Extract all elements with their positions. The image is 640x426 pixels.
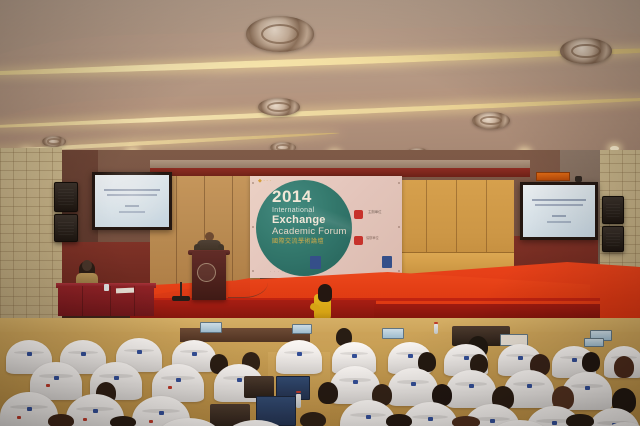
podium-seal-icon — [197, 263, 216, 282]
moderator-head — [82, 260, 92, 271]
right-slide-surface — [523, 185, 595, 237]
water-cup — [104, 284, 109, 291]
attendee-head — [386, 414, 412, 426]
banner-year: 2014 — [272, 188, 392, 205]
podium — [192, 252, 226, 300]
water-bottle — [296, 394, 301, 408]
wall-speaker-icon — [602, 196, 624, 224]
audience-area — [0, 318, 640, 426]
list-item — [388, 368, 438, 406]
banner-sponsor-logo — [382, 256, 392, 268]
attendee-head — [614, 356, 634, 378]
microphone-base — [172, 296, 190, 301]
conference-hall-photo: ◆ · · · 2014 International Exchange Acad… — [0, 0, 640, 426]
wall-speaker-icon — [602, 226, 624, 252]
left-textured-wall-panel — [0, 148, 62, 324]
ceiling-vent-icon — [42, 136, 66, 147]
banner-line-exchange: Exchange — [272, 215, 392, 226]
banner-sponsor-logo — [310, 256, 321, 269]
attendee-head — [110, 416, 136, 426]
laptop-screen — [200, 322, 222, 333]
laptop-screen — [584, 338, 604, 347]
ceiling-vent-icon — [246, 16, 314, 52]
ceiling-vent-icon — [560, 38, 612, 64]
attendee-head — [300, 412, 326, 426]
left-projection-screen — [92, 172, 172, 230]
exit-sign — [536, 172, 570, 181]
banner-accent-dot — [354, 236, 363, 245]
water-bottle — [434, 324, 438, 334]
ceiling-camera-icon — [575, 176, 582, 182]
right-projection-screen — [520, 182, 598, 240]
attendee-head — [566, 414, 594, 426]
water-bottle-cap — [296, 391, 301, 393]
attendee-head — [452, 416, 480, 426]
ceiling-vent-icon — [472, 112, 510, 129]
banner-footer-text: · · · · · · — [270, 270, 292, 274]
laptop-screen — [382, 328, 404, 339]
ceiling — [0, 0, 640, 160]
list-item — [446, 370, 496, 408]
laptop-screen — [292, 324, 312, 334]
banner-top-mark: ◆ · · · — [258, 178, 271, 184]
attendee-head — [582, 352, 600, 372]
aisle-attendee-hair — [318, 284, 332, 302]
list-item — [276, 340, 322, 374]
wall-speaker-icon — [54, 182, 78, 212]
ceiling-vent-icon — [258, 98, 300, 116]
banner-accent-dot — [354, 210, 363, 219]
bag — [244, 376, 274, 398]
water-bottle-cap — [434, 322, 438, 324]
attendee-head — [48, 414, 74, 426]
table-papers — [116, 288, 134, 294]
forum-backdrop-banner: ◆ · · · 2014 International Exchange Acad… — [250, 176, 402, 278]
banner-side-text-1: 主辦單位 — [368, 210, 398, 215]
banner-side-text-2: 協辦單位 — [366, 236, 398, 241]
wall-speaker-icon — [54, 214, 78, 242]
attendee-head — [318, 382, 338, 404]
left-slide-surface — [95, 175, 169, 227]
